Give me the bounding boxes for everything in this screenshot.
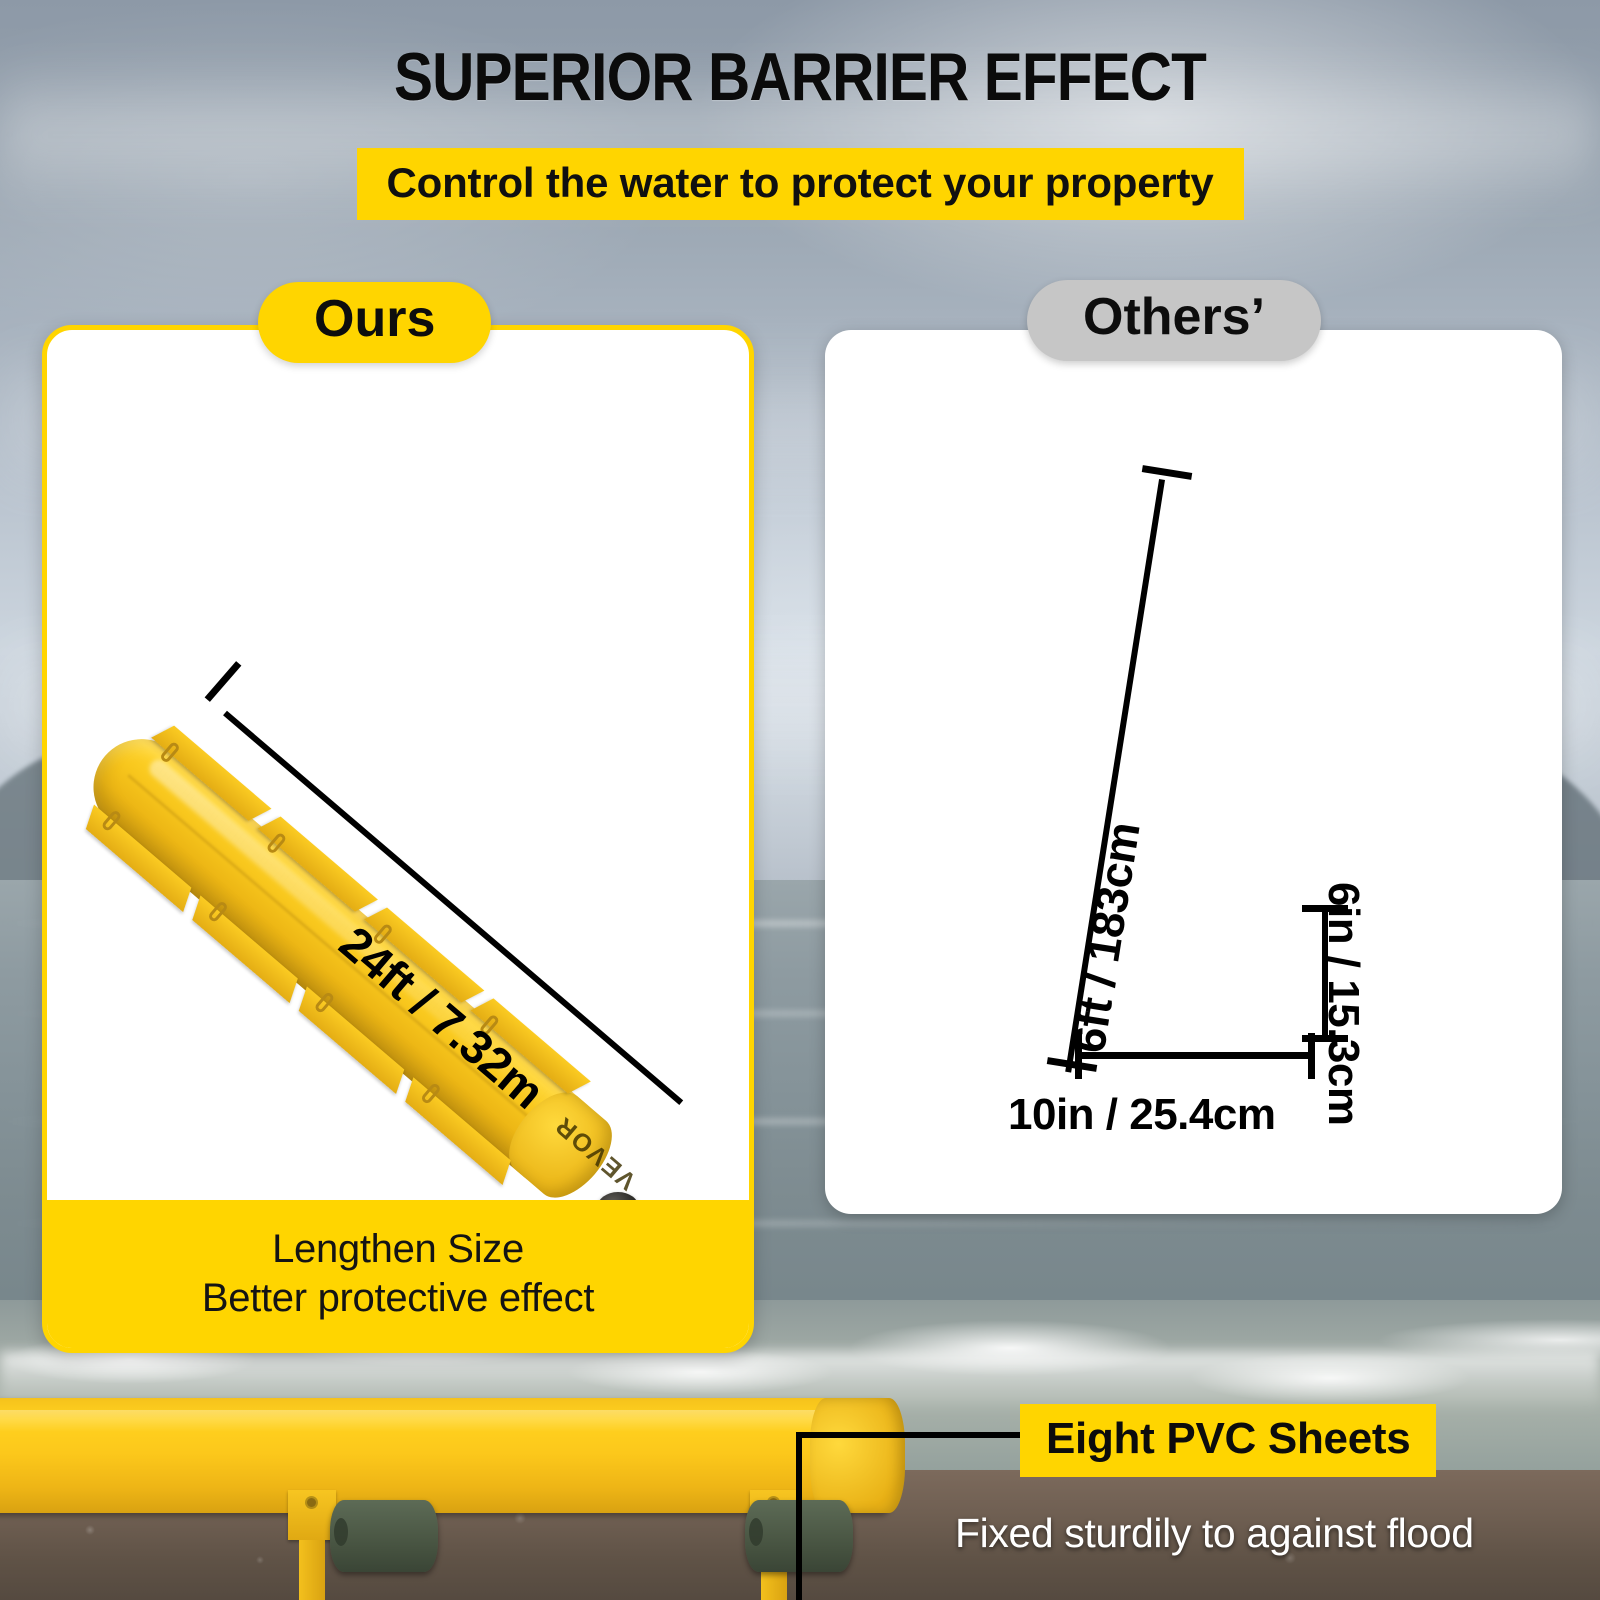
badge-ours: Ours (258, 282, 491, 363)
dimension-cap (205, 661, 242, 702)
callout-leader-line (796, 1432, 802, 1600)
dimension-cap (1308, 1033, 1315, 1079)
callout-leader-line (796, 1432, 1024, 1438)
comparison-card-ours: VEVOR 24ft / 7.32m 6in / 15.3cm 10in / 2… (42, 325, 754, 1353)
dimension-label-width: 10in / 25.4cm (1008, 1090, 1275, 1140)
dimension-cap (1075, 1033, 1082, 1079)
page-title: SUPERIOR BARRIER EFFECT (112, 38, 1488, 116)
ours-caption-line2: Better protective effect (202, 1276, 594, 1321)
subheadline: Control the water to protect your proper… (357, 148, 1244, 220)
dimension-label-height: 6in / 15.3cm (1318, 882, 1368, 1125)
barrier-end-cap (810, 1398, 905, 1513)
callout-title: Eight PVC Sheets (1020, 1404, 1436, 1477)
dimension-label-length: 6ft / 183cm (1061, 819, 1151, 1057)
comparison-card-others: 6ft / 183cm 6in / 15.3cm 10in / 25.4cm (825, 330, 1562, 1214)
badge-others: Others’ (1027, 280, 1321, 361)
dimension-cap (1142, 465, 1192, 480)
ours-caption-line1: Lengthen Size (272, 1227, 524, 1272)
pvc-anchor-tab (288, 1490, 336, 1540)
subheadline-container: Control the water to protect your proper… (0, 148, 1600, 220)
callout-subtitle: Fixed sturdily to against flood (955, 1510, 1474, 1557)
ours-caption: Lengthen Size Better protective effect (47, 1200, 749, 1348)
ours-product-area: VEVOR 24ft / 7.32m 6in / 15.3cm 10in / 2… (47, 330, 749, 1210)
sandbag-weight (330, 1500, 438, 1572)
dimension-line-width (1078, 1052, 1315, 1059)
pvc-anchor-strap (299, 1540, 325, 1600)
